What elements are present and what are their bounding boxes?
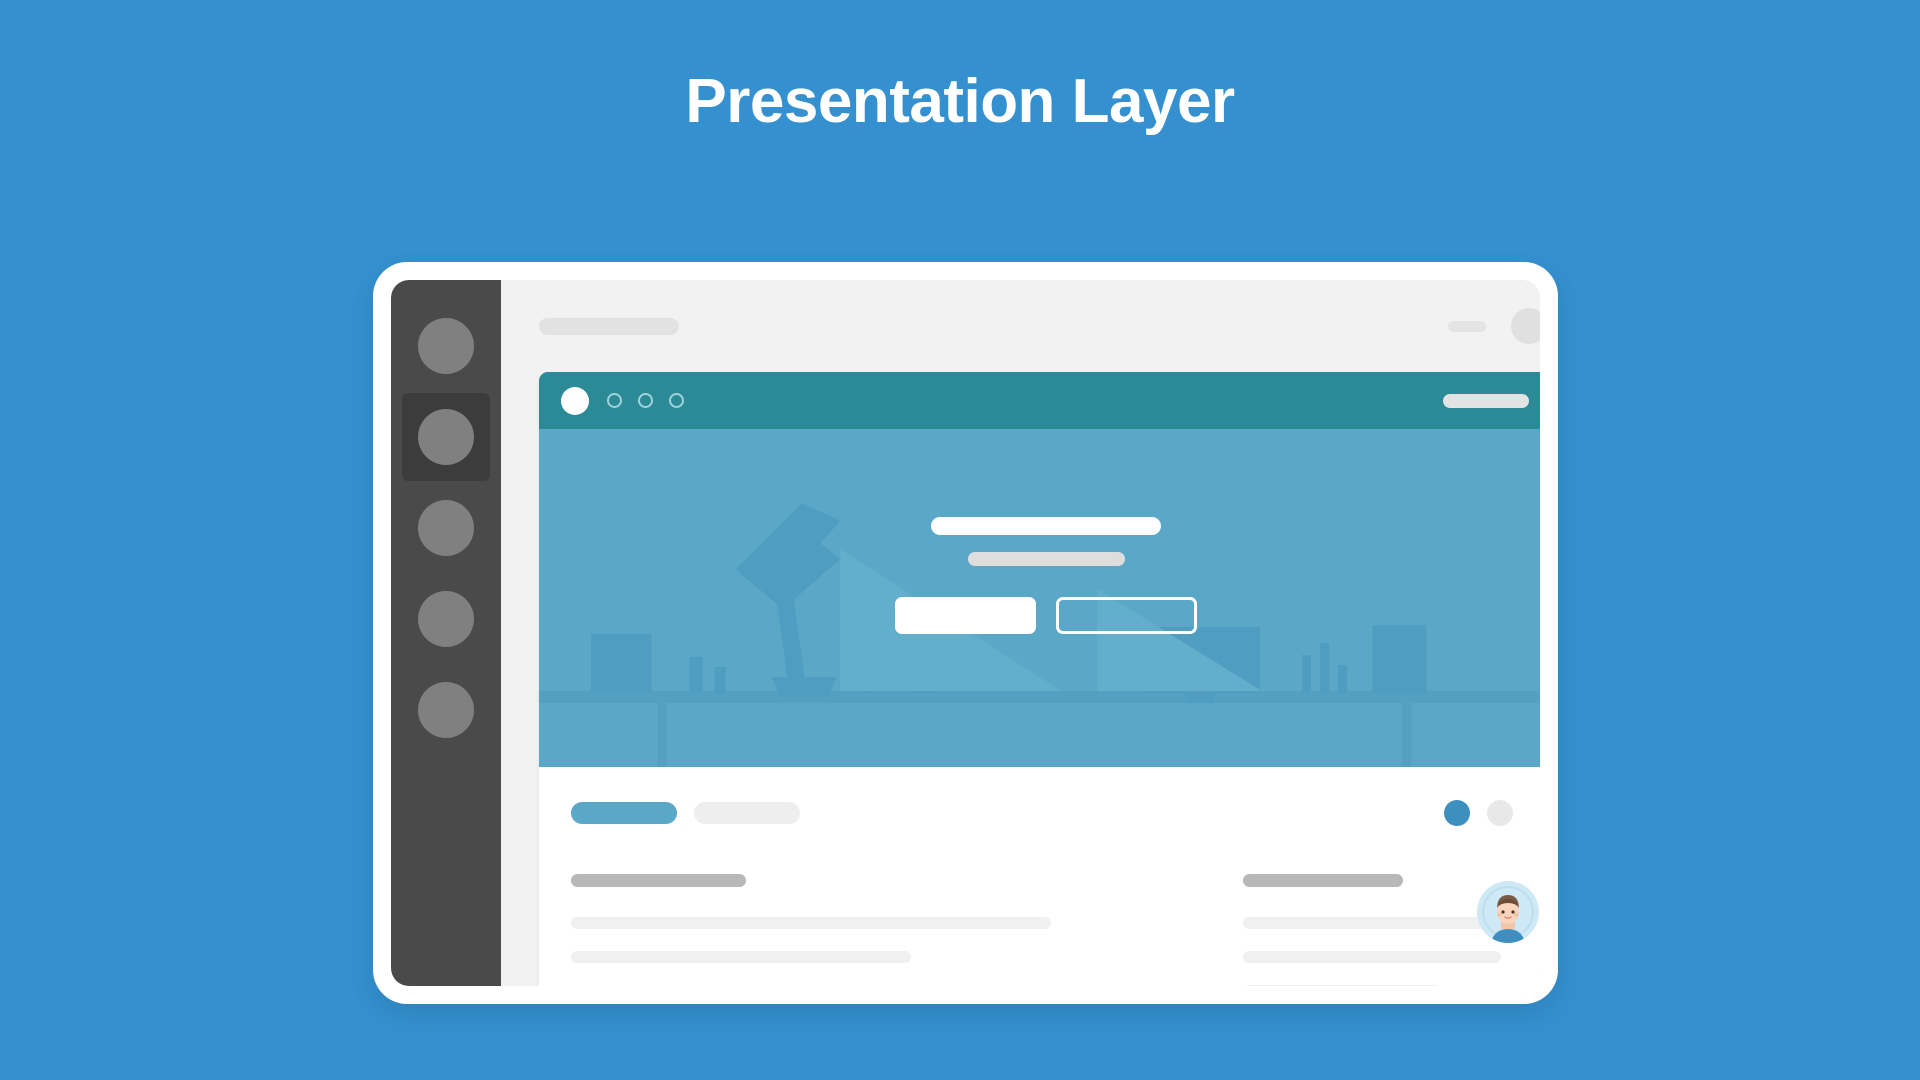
browser-tabbar: [539, 372, 1540, 429]
sidebar-item-5[interactable]: [402, 666, 490, 754]
sidebar-icon-5: [418, 682, 474, 738]
browser-window: [539, 372, 1540, 986]
carousel-dot-1[interactable]: [1444, 800, 1470, 826]
app-title-placeholder: [539, 318, 679, 335]
hero-cta-group: [895, 597, 1197, 634]
hero-subtitle: [968, 552, 1125, 566]
content-column-right: [1243, 874, 1513, 986]
carousel-dot-2[interactable]: [1487, 800, 1513, 826]
hero-primary-button[interactable]: [895, 597, 1036, 634]
page-title: Presentation Layer: [0, 68, 1920, 136]
hero-secondary-button[interactable]: [1056, 597, 1197, 634]
app-body: [501, 280, 1540, 986]
content-toolbar: [571, 800, 1513, 826]
browser-tab-active-icon[interactable]: [561, 387, 589, 415]
right-line-1: [1243, 917, 1501, 929]
page-root: Presentation Layer: [0, 0, 1920, 1080]
device-screen: [391, 280, 1540, 986]
left-heading: [571, 874, 746, 887]
content-columns: [571, 874, 1513, 986]
right-line-2: [1243, 951, 1501, 963]
browser-tab-icon-1[interactable]: [607, 393, 622, 408]
device-frame: [373, 262, 1558, 1004]
right-line-3: [1243, 985, 1441, 986]
account-avatar-button[interactable]: [1511, 308, 1540, 344]
user-avatar[interactable]: [1477, 881, 1539, 943]
sidebar-item-3[interactable]: [402, 484, 490, 572]
hero-headline: [931, 517, 1161, 535]
avatar-face-icon: [1477, 881, 1539, 943]
right-heading: [1243, 874, 1403, 887]
sidebar-icon-4: [418, 591, 474, 647]
tab-secondary[interactable]: [694, 802, 800, 824]
sidebar-item-1[interactable]: [402, 302, 490, 390]
sidebar-item-2[interactable]: [402, 393, 490, 481]
app-sidebar: [391, 280, 501, 986]
sidebar-item-4[interactable]: [402, 575, 490, 663]
sidebar-icon-2: [418, 409, 474, 465]
hero-content: [539, 517, 1540, 634]
tab-primary[interactable]: [571, 802, 677, 824]
address-bar[interactable]: [1443, 394, 1529, 408]
browser-tab-icon-2[interactable]: [638, 393, 653, 408]
content-area: [539, 767, 1540, 986]
left-line-1: [571, 917, 1051, 929]
sidebar-icon-3: [418, 500, 474, 556]
left-line-2: [571, 951, 911, 963]
content-column-left: [571, 874, 1151, 986]
app-header: [501, 280, 1540, 372]
minimize-button[interactable]: [1448, 321, 1486, 332]
sidebar-icon-1: [418, 318, 474, 374]
browser-tab-icon-3[interactable]: [669, 393, 684, 408]
hero-banner: [539, 429, 1540, 767]
